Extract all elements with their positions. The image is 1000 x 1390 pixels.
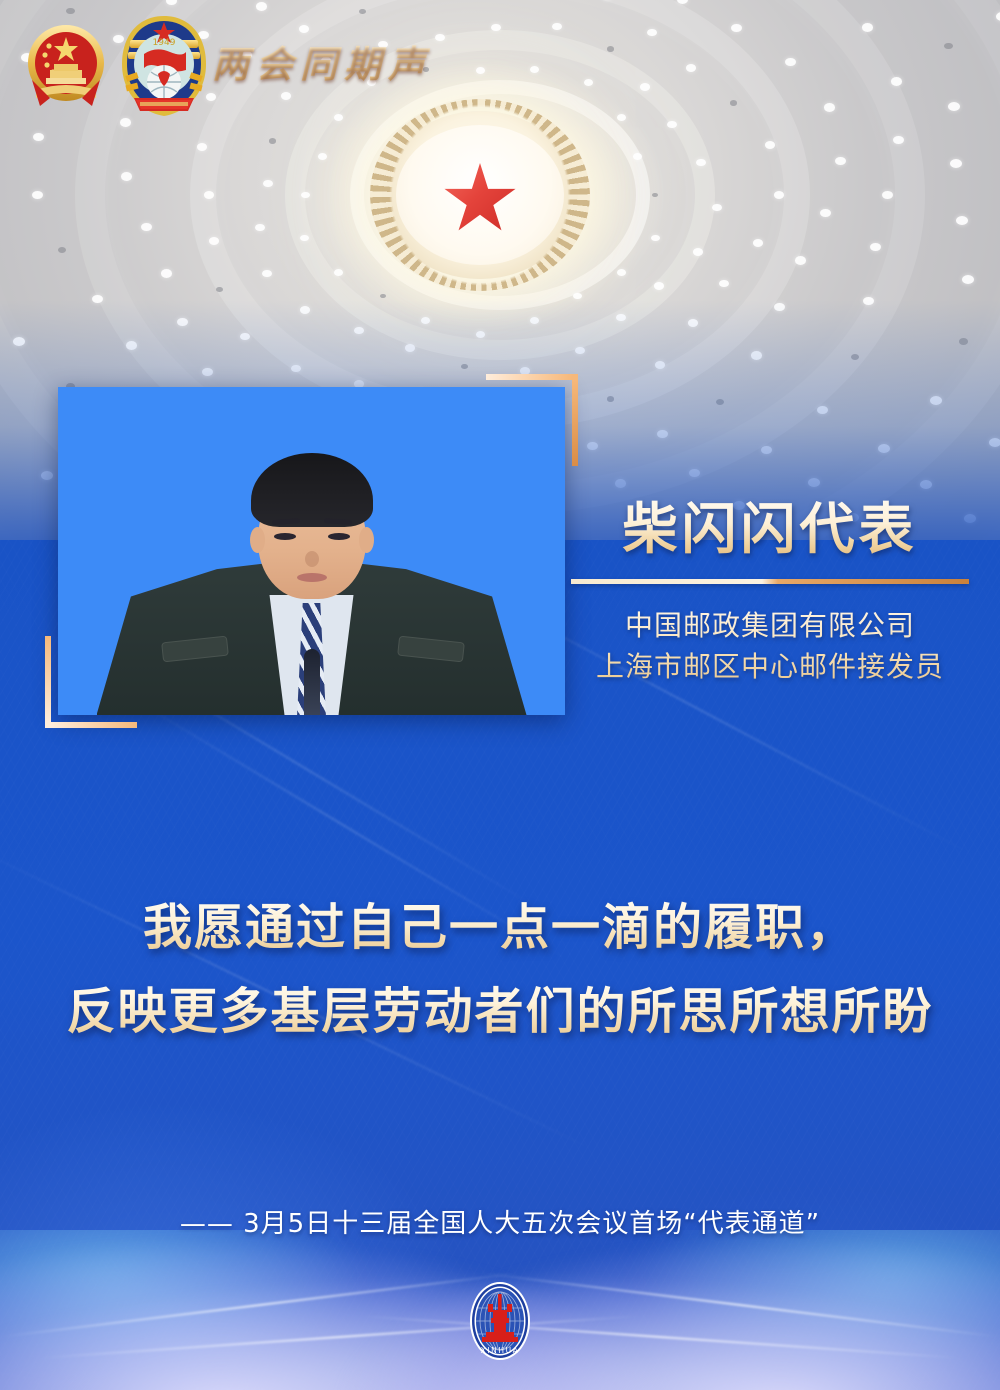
ceiling-dot — [255, 224, 265, 232]
ceiling-dot — [795, 256, 806, 264]
subject-affiliation-line-1: 中国邮政集团有限公司 — [570, 606, 970, 647]
ceiling-dot — [633, 153, 642, 160]
photo-corner-bracket-top-right — [486, 374, 578, 466]
ceiling-dot — [141, 223, 152, 231]
banner-title: 两会同期声 — [212, 34, 432, 88]
ceiling-dot — [209, 237, 219, 245]
photo-corner-bracket-bottom-left — [45, 636, 137, 728]
portrait-eye-left — [274, 533, 296, 540]
ceiling-dot — [121, 172, 132, 180]
ceiling-dot — [765, 141, 775, 149]
ceiling-dot — [380, 294, 387, 299]
ceiling-dot — [651, 235, 660, 242]
ceiling-dot — [753, 239, 763, 247]
ceiling-dot — [956, 216, 968, 225]
ceiling-dot — [573, 293, 582, 300]
ceiling-dot — [161, 269, 172, 277]
poster-root: 1949 两会同期声 — [0, 0, 1000, 1390]
xinhua-logo-text: XINHUA — [481, 1346, 520, 1355]
ceiling-dot — [58, 247, 66, 253]
ceiling-dot — [893, 136, 904, 144]
ceiling-dot — [962, 275, 974, 284]
ceiling-dot — [262, 270, 272, 278]
subject-name: 柴闪闪代表 — [570, 498, 970, 561]
portrait-mouth — [297, 573, 327, 582]
ceiling-dot — [197, 143, 207, 151]
xinhua-news-agency-logo-icon: XINHUA — [468, 1280, 532, 1362]
portrait-photo-container — [58, 387, 565, 715]
ceiling-dot — [652, 193, 659, 198]
name-divider — [571, 579, 969, 584]
ceiling-dot — [216, 287, 223, 293]
ceiling-dot — [693, 248, 703, 256]
ceiling-dot — [667, 121, 677, 129]
ceiling-dot — [820, 209, 831, 217]
quote-line-1: 我愿通过自己一点一滴的履职， — [0, 893, 1000, 963]
portrait-ear-left — [250, 527, 265, 553]
quote-attribution: —— 3月5日十三届全国人大五次会议首场“代表通道” — [0, 1203, 1000, 1240]
portrait-ear-right — [359, 527, 374, 553]
ceiling-dot — [32, 191, 43, 199]
ceiling-dot — [318, 153, 327, 160]
svg-text:1949: 1949 — [153, 38, 176, 48]
subject-affiliation-line-2: 上海市邮区中心邮件接发员 — [570, 647, 970, 688]
ceiling-dot — [204, 191, 214, 199]
portrait-nose — [305, 551, 319, 567]
ceiling-dot — [774, 191, 784, 199]
subject-name-card: 柴闪闪代表 中国邮政集团有限公司 上海市邮区中心邮件接发员 — [570, 498, 970, 687]
portrait-eye-right — [328, 533, 350, 540]
ceiling-dot — [269, 138, 276, 144]
ceiling-dot — [712, 204, 722, 212]
ceiling-dot — [696, 159, 706, 167]
ceiling-dot — [882, 191, 893, 199]
quote-line-2: 反映更多基层劳动者们的所思所想所盼 — [0, 977, 1000, 1047]
ceiling-dot — [617, 269, 626, 276]
portrait-hair — [251, 453, 373, 527]
ceiling-dot — [870, 243, 881, 251]
microphone-icon — [304, 649, 320, 715]
ceiling-dot — [654, 282, 664, 290]
ceiling-dot — [301, 192, 310, 199]
ceiling-dot — [950, 159, 962, 168]
quote-block: 我愿通过自己一点一滴的履职， 反映更多基层劳动者们的所思所想所盼 — [0, 893, 1000, 1046]
national-emblem-icon — [16, 18, 116, 118]
ceiling-dot — [719, 280, 729, 288]
poster-header: 1949 两会同期声 — [0, 0, 1000, 120]
ceiling-dot — [300, 235, 309, 242]
ceiling-dot — [334, 269, 343, 276]
ceiling-dot — [33, 133, 44, 141]
cppcc-emblem-icon: 1949 — [116, 12, 212, 120]
ceiling-dot — [263, 180, 273, 188]
ceiling-dot — [835, 157, 846, 165]
